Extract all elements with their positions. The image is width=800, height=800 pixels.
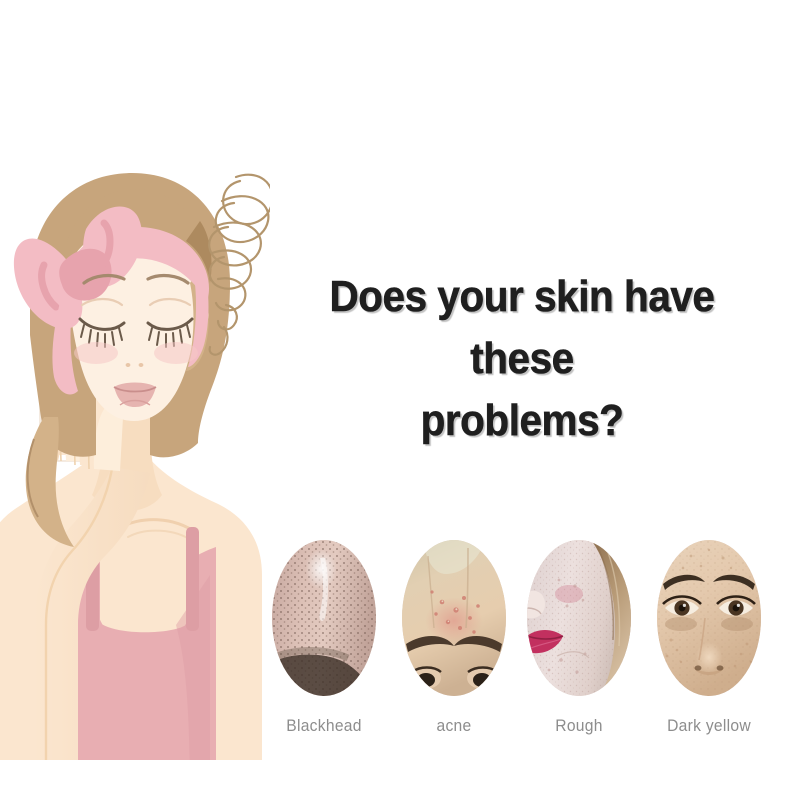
photo-acne-image	[402, 540, 506, 696]
photo-acne[interactable]: acne	[402, 540, 506, 696]
photo-label-acne: acne	[436, 716, 471, 736]
photo-label-blackhead: Blackhead	[286, 716, 362, 736]
photo-dark-yellow-image	[657, 540, 761, 696]
photo-label-dark-yellow: Dark yellow	[667, 716, 751, 736]
photo-rough[interactable]: Rough	[527, 540, 631, 696]
page-title: Does your skin have these problems?	[310, 266, 733, 452]
photo-dark-yellow[interactable]: Dark yellow	[657, 540, 761, 696]
photo-blackhead-image	[272, 540, 376, 696]
photo-blackhead[interactable]: Blackhead	[272, 540, 376, 696]
photo-label-rough: Rough	[555, 716, 602, 736]
promo-banner-canvas: Does your skin have these problems?	[0, 0, 800, 800]
worried-woman-illustration	[0, 155, 270, 800]
skin-problem-gallery: Blackhead	[272, 540, 792, 760]
photo-rough-image	[527, 540, 631, 696]
